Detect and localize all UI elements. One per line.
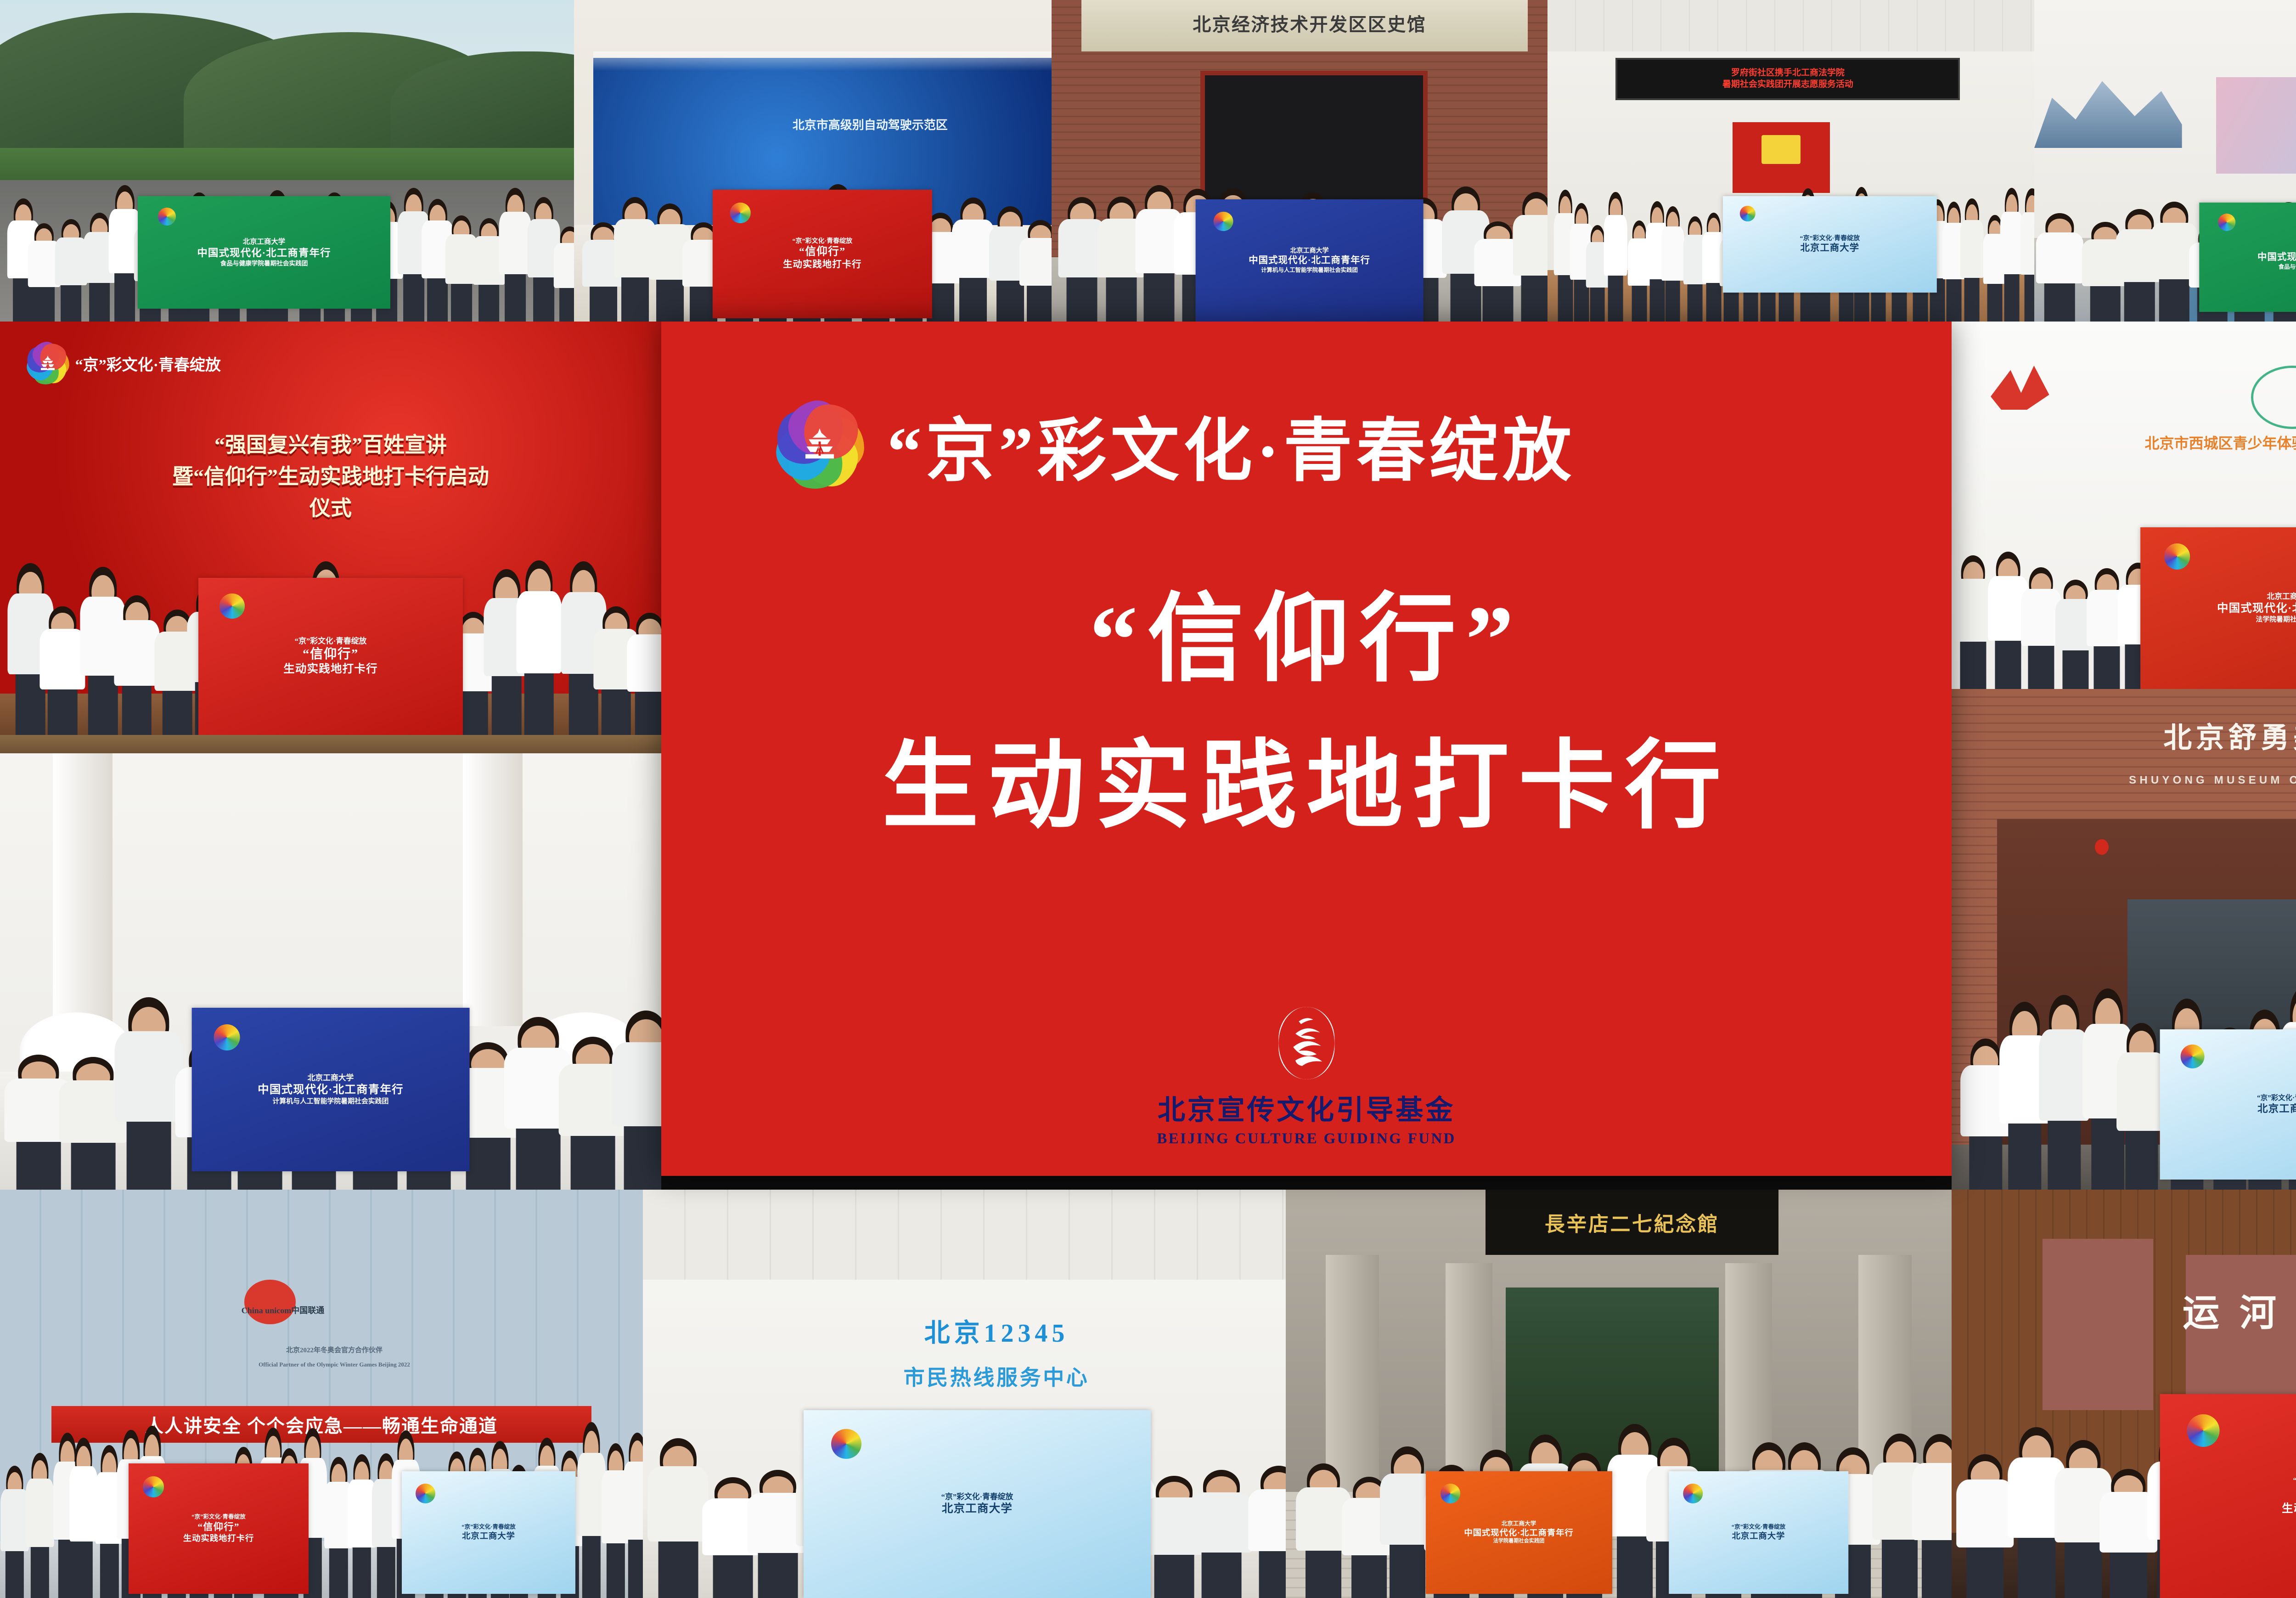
venue-sign-sub: 市民热线服务中心 [904, 1361, 1090, 1391]
person-figure [2018, 191, 2034, 322]
jingcai-culture-mini-logo [1214, 212, 1233, 232]
crowd [1286, 1410, 1952, 1598]
photo-shuyong-museum-of-modern-art: 北京舒勇美术馆 SHUYONG MUSEUM OF MODERN ART “京”… [1952, 689, 2296, 1190]
person-figure [621, 615, 661, 735]
venue-sign: 北京经济技术开发区区史馆 [1193, 10, 1426, 36]
photo-tile: 北京工商大学 中国式现代化·北工商青年行 食品与健康学院暑期社会实践团 [0, 0, 574, 322]
photo-lufujie-community-volunteer: 罗府街社区携手北工商法学院 暑期社会实践团开展志愿服务活动 “京”彩文化·青春绽… [1548, 0, 2034, 322]
venue-sign-en: SHUYONG MUSEUM OF MODERN ART [2129, 774, 2296, 787]
venue-sign: 北京市西城区青少年体验式法治教育中心 [2144, 432, 2296, 453]
banner-cyan: “京”彩文化·青春绽放 北京工商大学 [804, 1410, 1151, 1598]
banner-green: 北京工商大学 中国式现代化·北工商青年行 食品与健康学院暑期社会实践团 [2199, 203, 2296, 312]
fund-emblem-block: 北京宣传文化引导基金 BEIJING CULTURE GUIDING FUND [1157, 1007, 1456, 1147]
venue-sign: 北京12345 [924, 1312, 1069, 1350]
jingcai-culture-mini-logo [1441, 1484, 1460, 1503]
wall-text-cn: 北京2022年冬奥会官方合作伙伴 [286, 1345, 383, 1355]
photo-tile: China unicom中国联通 北京2022年冬奥会官方合作伙伴 Offici… [0, 1190, 643, 1598]
photo-village-mountain-group: 北京工商大学 中国式现代化·北工商青年行 食品与健康学院暑期社会实践团 [0, 0, 574, 322]
jingcai-culture-mini-logo [730, 203, 751, 223]
venue-sign: “强国复兴有我”百姓宣讲 暨“信仰行”生动实践地打卡行启动仪式 [165, 429, 496, 524]
banner-blue: 北京工商大学 中国式现代化·北工商青年行 计算机与人工智能学院暑期社会实践团 [1195, 199, 1424, 322]
photo-tile: 北京12345 市民热线服务中心 “京”彩文化·青春绽放 北京工商大学 [643, 1190, 1286, 1598]
photo-china-unicom-safety-banner: China unicom中国联通 北京2022年冬奥会官方合作伙伴 Offici… [0, 1190, 643, 1598]
person-figure [1905, 1437, 1952, 1598]
jingcai-culture-logo [776, 401, 863, 489]
venue-sign: 运河有戏 [2183, 1283, 2296, 1337]
jingcai-culture-mini-logo [831, 1429, 861, 1459]
jingcai-culture-mini-logo [214, 1024, 240, 1050]
fund-name-en: BEIJING CULTURE GUIDING FUND [1157, 1130, 1456, 1147]
hero-header: “京”彩文化·青春绽放 [776, 395, 1576, 495]
hero-panel: “京”彩文化·青春绽放 “信仰行” 生动实践地打卡行 北京宣传文化引导基金 BE… [661, 322, 1952, 1176]
jingcai-culture-mini-logo [1740, 206, 1756, 221]
photo-tile: 北京市西城区青少年体验式法治教育中心 北京工商大学 中国式现代化·北工商青年行 … [1952, 322, 2296, 689]
banner-red: 北京工商大学 中国式现代化·北工商青年行 法学院暑期社会实践团 [2140, 527, 2296, 689]
banner-cyan: “京”彩文化·青春绽放 北京工商大学 [1669, 1471, 1849, 1594]
photo-airhall-blue-screen-group: 北京市高级别自动驾驶示范区 “京”彩文化·青春绽放 “信仰行” 生动实践地打卡行 [574, 0, 1052, 322]
person-figure [1507, 194, 1548, 322]
jingcai-culture-mini-logo [143, 1476, 163, 1497]
photo-youth-legal-education-center: 北京市西城区青少年体验式法治教育中心 北京工商大学 中国式现代化·北工商青年行 … [1952, 322, 2296, 689]
banner-orange: 北京工商大学 中国式现代化·北工商青年行 法学院暑期社会实践团 [1426, 1471, 1612, 1594]
wall-logo-text: China unicom中国联通 [242, 1304, 325, 1316]
photo-white-atrium-mascots: 北京工商大学 中国式现代化·北工商青年行 计算机与人工智能学院暑期社会实践团 [0, 735, 661, 1190]
person-figure [550, 228, 574, 322]
jingcai-culture-mini-logo [1683, 1484, 1703, 1503]
banner-red: “京”彩文化·青春绽放 “信仰行” 生动实践地打卡行 [713, 190, 932, 318]
jingcai-culture-mini-logo [416, 1484, 435, 1503]
hero-title-line2: 生动实践地打卡行 [661, 707, 1952, 847]
jingcai-culture-mini-logo [2187, 1414, 2219, 1447]
photo-tile: 北京工商大学 中国式现代化·北工商青年行 计算机与人工智能学院暑期社会实践团 [0, 735, 661, 1190]
photo-bda-history-museum-group: 北京经济技术开发区区史馆 北京工商大学 中国式现代化·北工商青年行 计算机与人工… [1052, 0, 1548, 322]
banner-cyan: “京”彩文化·青春绽放 北京工商大学 [2160, 1029, 2296, 1180]
jingcai-culture-mini-logo [158, 208, 176, 226]
jingcai-culture-logo [27, 342, 69, 384]
jingcai-culture-mini-logo [2164, 543, 2190, 569]
banner-blue: 北京工商大学 中国式现代化·北工商青年行 计算机与人工智能学院暑期社会实践团 [192, 1008, 470, 1171]
photo-launch-ceremony-stage: “京”彩文化·青春绽放 “强国复兴有我”百姓宣讲 暨“信仰行”生动实践地打卡行启… [0, 322, 661, 735]
photo-beijing-12345-hotline-center: 北京12345 市民热线服务中心 “京”彩文化·青春绽放 北京工商大学 [643, 1190, 1286, 1598]
hero-title-line1: “信仰行” [661, 560, 1952, 700]
photo-canal-opera-hall: 运河有戏 “京”彩文化·青春绽放 “信仰行” 生动实践地打卡行 [1952, 1190, 2296, 1598]
photo-tile: 运河有戏 “京”彩文化·青春绽放 “信仰行” 生动实践地打卡行 [1952, 1190, 2296, 1598]
photo-tile: 北京工商大学 中国式现代化·北工商青年行 食品与健康学院暑期社会实践团 [2034, 0, 2296, 322]
venue-sign: 北京舒勇美术馆 [2163, 714, 2296, 756]
venue-sign: 罗府街社区携手北工商法学院 暑期社会实践团开展志愿服务活动 [1722, 68, 1853, 90]
venue-sign: 北京市高级别自动驾驶示范区 [793, 116, 948, 133]
banner-green: 北京工商大学 中国式现代化·北工商青年行 食品与健康学院暑期社会实践团 [138, 196, 390, 309]
photo-tile: 罗府街社区携手北工商法学院 暑期社会实践团开展志愿服务活动 “京”彩文化·青春绽… [1548, 0, 2034, 322]
person-figure [603, 1014, 661, 1190]
beijing-culture-guiding-fund-emblem [1278, 1007, 1334, 1079]
banner-cyan: “京”彩文化·青春绽放 北京工商大学 [402, 1471, 575, 1594]
photo-tile: 長辛店二七紀念館 北京工商大学 中国式现代化·北工商青年行 法学院暑期社会实践团… [1286, 1190, 1952, 1598]
fund-name-cn: 北京宣传文化引导基金 [1158, 1088, 1455, 1128]
jingcai-culture-mini-logo [2218, 214, 2235, 231]
temple-of-heaven-icon [39, 355, 56, 373]
jingcai-culture-mini-logo [219, 593, 245, 619]
photo-tile: 北京经济技术开发区区史馆 北京工商大学 中国式现代化·北工商青年行 计算机与人工… [1052, 0, 1548, 322]
photo-tile: 北京市高级别自动驾驶示范区 “京”彩文化·青春绽放 “信仰行” 生动实践地打卡行 [574, 0, 1052, 322]
photo-ink-mountain-hall-group: 北京工商大学 中国式现代化·北工商青年行 食品与健康学院暑期社会实践团 [2034, 0, 2296, 322]
stage-brand-text: “京”彩文化·青春绽放 [75, 352, 221, 375]
hero-kicker: “京”彩文化·青春绽放 [887, 395, 1576, 495]
photo-tile: 北京舒勇美术馆 SHUYONG MUSEUM OF MODERN ART “京”… [1952, 689, 2296, 1190]
photo-changxindian-erqi-memorial: 長辛店二七紀念館 北京工商大学 中国式现代化·北工商青年行 法学院暑期社会实践团… [1286, 1190, 1952, 1598]
banner-red: “京”彩文化·青春绽放 “信仰行” 生动实践地打卡行 [198, 578, 463, 735]
banner-red: “京”彩文化·青春绽放 “信仰行” 生动实践地打卡行 [129, 1463, 309, 1594]
wall-text-en: Official Partner of the Olympic Winter G… [259, 1361, 410, 1368]
person-figure [1240, 1468, 1286, 1598]
banner-cyan: “京”彩文化·青春绽放 北京工商大学 [1723, 196, 1937, 293]
person-figure [1014, 222, 1052, 322]
jingcai-culture-mini-logo [2181, 1045, 2205, 1068]
venue-sign: 長辛店二七紀念館 [1545, 1208, 1719, 1237]
banner-red: “京”彩文化·青春绽放 “信仰行” 生动实践地打卡行 [2160, 1394, 2296, 1598]
temple-of-heaven-icon [802, 428, 837, 466]
person-figure [619, 1436, 643, 1598]
photo-tile: “京”彩文化·青春绽放 “强国复兴有我”百姓宣讲 暨“信仰行”生动实践地打卡行启… [0, 322, 661, 735]
poster-canvas: 北京工商大学 中国式现代化·北工商青年行 食品与健康学院暑期社会实践团 北京市高… [0, 0, 2296, 1598]
